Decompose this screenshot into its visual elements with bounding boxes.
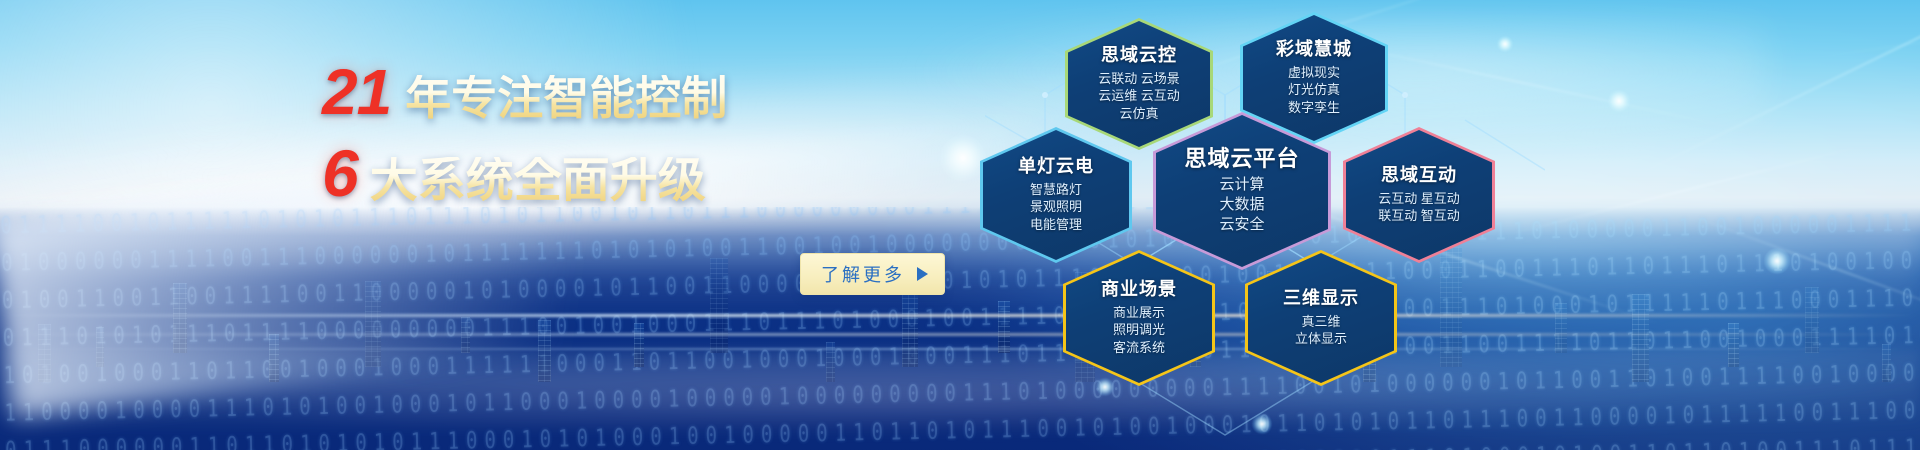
hexagon-sublabels: 真三维立体显示 <box>1295 313 1347 347</box>
hexagon-title: 思域云控 <box>1101 46 1177 65</box>
hexagon-body: 商业场景商业展示照明调光客流系统 <box>1066 253 1212 383</box>
hexagon-dandeng-yundian[interactable]: 单灯云电智慧路灯景观照明电能管理 <box>980 127 1132 263</box>
hexagon-sublabel: 真三维 <box>1295 313 1347 330</box>
hexagon-sublabel: 电能管理 <box>1030 216 1082 233</box>
hexagon-sublabel: 虚拟现实 <box>1288 64 1340 81</box>
hexagon-sublabels: 云计算大数据云安全 <box>1219 175 1264 234</box>
building <box>710 258 728 353</box>
hexagon-body: 单灯云电智慧路灯景观照明电能管理 <box>983 130 1129 260</box>
hexagon-shangye-changjing[interactable]: 商业场景商业展示照明调光客流系统 <box>1063 250 1215 386</box>
hexagon-title: 思域互动 <box>1381 166 1457 185</box>
hexagon-sanwei-xianshi[interactable]: 三维显示真三维立体显示 <box>1245 250 1397 386</box>
hero-banner: 0111100101111101010111011101011001011011… <box>0 0 1920 450</box>
hexagon-sublabel: 云安全 <box>1219 215 1264 235</box>
hexagon-sublabels: 云互动 星互动联互动 智互动 <box>1378 190 1460 224</box>
hexagon-sublabel: 联互动 智互动 <box>1378 207 1460 224</box>
learn-more-button[interactable]: 了解更多 <box>800 253 945 295</box>
hexagon-title: 思域云平台 <box>1184 147 1299 170</box>
hexagon-sublabel: 商业展示 <box>1113 304 1165 321</box>
headline-text-1: 年专注智能控制 <box>405 75 727 121</box>
headline-number-6: 6 <box>322 140 358 206</box>
hexagon-sublabels: 智慧路灯景观照明电能管理 <box>1030 181 1082 232</box>
hexagon-title: 单灯云电 <box>1018 157 1094 176</box>
learn-more-label: 了解更多 <box>821 261 905 287</box>
hexagon-sublabel: 大数据 <box>1219 195 1264 215</box>
hexagon-sublabel: 立体显示 <box>1295 330 1347 347</box>
headline-block: 21 年专注智能控制 6 大系统全面升级 <box>322 60 792 206</box>
light-beam <box>1619 0 1920 184</box>
light-beam <box>1685 213 1920 329</box>
hexagon-sublabel: 景观照明 <box>1030 198 1082 215</box>
headline-text-2: 大系统全面升级 <box>370 157 706 205</box>
hexagon-cluster: 思域云控云联动 云场景云运维 云互动云仿真彩域慧城虚拟现实灯光仿真数字孪生单灯云… <box>985 0 1545 450</box>
hexagon-body: 思域云平台云计算大数据云安全 <box>1156 115 1328 267</box>
hexagon-siyu-hudong[interactable]: 思域互动云互动 星互动联互动 智互动 <box>1343 127 1495 263</box>
hexagon-sublabel: 灯光仿真 <box>1288 81 1340 98</box>
hexagon-body: 思域互动云互动 星互动联互动 智互动 <box>1346 130 1492 260</box>
hexagon-title: 三维显示 <box>1283 289 1359 308</box>
hexagon-sublabels: 商业展示照明调光客流系统 <box>1113 304 1165 355</box>
headline-line-2: 6 大系统全面升级 <box>322 140 792 206</box>
headline-number-21: 21 <box>322 60 391 124</box>
hexagon-sublabel: 云计算 <box>1219 175 1264 195</box>
hexagon-title: 彩域慧城 <box>1276 40 1352 59</box>
light-beam <box>1790 0 1920 62</box>
hexagon-sublabel: 照明调光 <box>1113 321 1165 338</box>
hexagon-sublabel: 客流系统 <box>1113 339 1165 356</box>
light-orb <box>1608 90 1630 112</box>
hexagon-siyu-yunpingtai[interactable]: 思域云平台云计算大数据云安全 <box>1153 112 1331 270</box>
play-triangle-icon <box>917 267 928 281</box>
hexagon-body: 三维显示真三维立体显示 <box>1248 253 1394 383</box>
hexagon-sublabel: 云运维 云互动 <box>1098 87 1180 104</box>
light-orb <box>1764 248 1790 274</box>
hexagon-sublabel: 云互动 星互动 <box>1378 190 1460 207</box>
hexagon-title: 商业场景 <box>1101 280 1177 299</box>
light-beam <box>1502 143 1870 237</box>
hexagon-sublabels: 虚拟现实灯光仿真数字孪生 <box>1288 64 1340 115</box>
hexagon-sublabel: 云联动 云场景 <box>1098 70 1180 87</box>
hexagon-sublabel: 智慧路灯 <box>1030 181 1082 198</box>
headline-line-1: 21 年专注智能控制 <box>322 60 792 124</box>
